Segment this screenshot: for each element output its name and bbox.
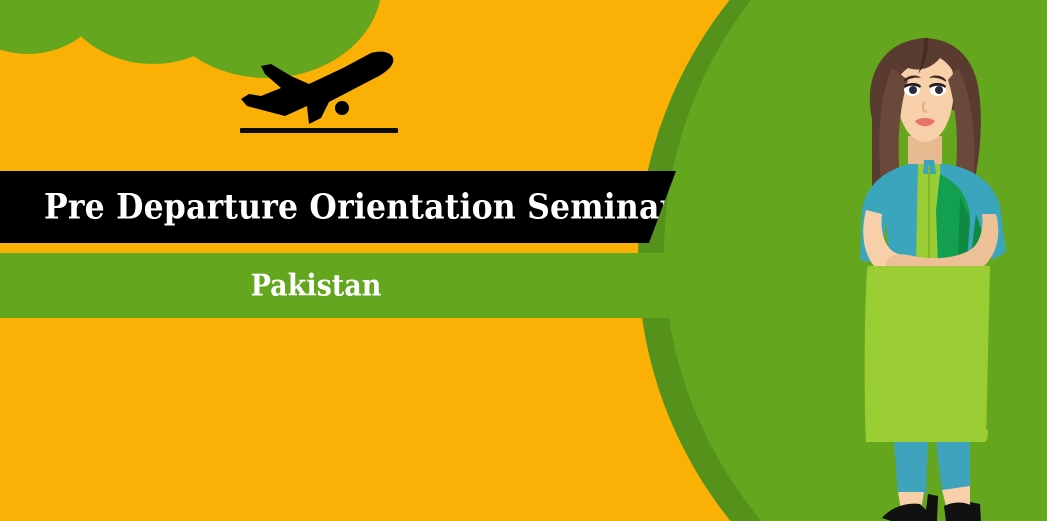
page-subtitle: Pakistan — [0, 268, 690, 303]
title-band: Pre Departure Orientation Seminar — [0, 171, 676, 243]
page-title: Pre Departure Orientation Seminar — [44, 187, 676, 228]
poster-canvas: Pre Departure Orientation Seminar Pakist… — [0, 0, 1047, 521]
runway-line — [240, 128, 398, 133]
subtitle-band: Pakistan — [0, 253, 690, 318]
woman-illustration — [820, 24, 1035, 521]
